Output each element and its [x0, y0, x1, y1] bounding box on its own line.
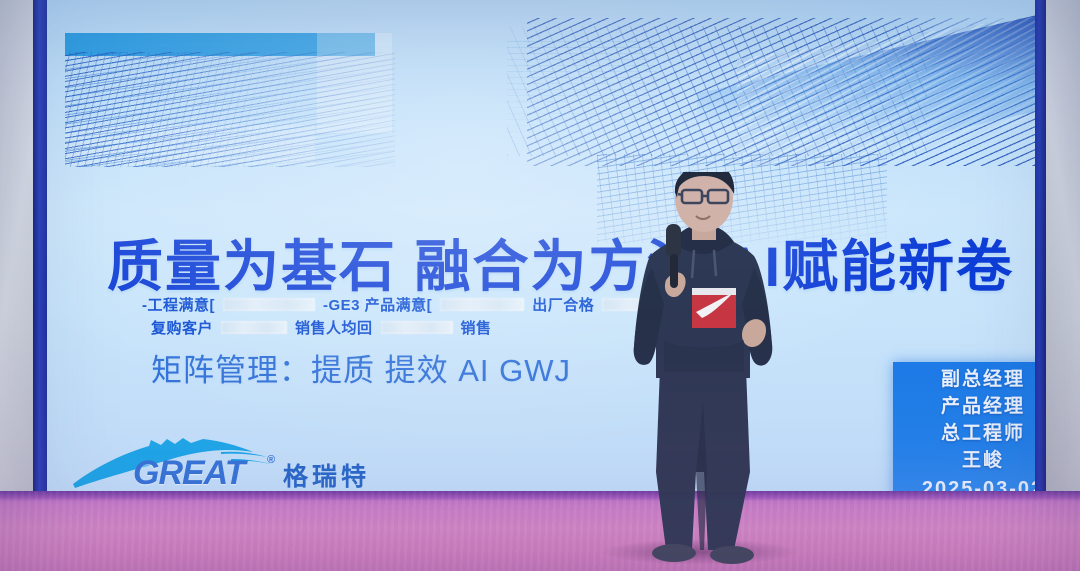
presenter-role-1: 副总经理: [893, 366, 1035, 393]
slide-tagline: 矩阵管理：提质 提效 AI GWJ: [151, 345, 571, 390]
metric-label: -GE3 产品满意[: [323, 294, 432, 315]
building-artwork-right: [507, 6, 1035, 166]
redacted-value: [440, 298, 524, 311]
slide-metrics-line-2: 复购客户销售人均回销售: [151, 317, 496, 338]
metric-label: 销售: [461, 317, 492, 338]
presentation-screen: 质量为基石 融合为方法 AI赋能新卷 -工程满意[-GE3 产品满意[出厂合格客…: [47, 0, 1035, 503]
stage-floor: [0, 491, 1080, 571]
presenter-name: 王峻: [893, 447, 1035, 474]
metric-label: 复购客户: [151, 317, 213, 338]
speaker-shoe-right: [710, 546, 754, 564]
presenter-role-2: 产品经理: [893, 393, 1035, 420]
redacted-value: [381, 321, 453, 334]
presenter-info-panel: 副总经理 产品经理 总工程师 王峻 2025-03-02: [893, 362, 1035, 503]
company-logo: GREAT ® 格瑞特: [71, 432, 371, 494]
logo-registered-icon: ®: [267, 454, 275, 466]
metric-label: 出厂合格: [532, 294, 594, 315]
speaker-shoe-left: [652, 544, 696, 562]
microphone-icon: [666, 224, 681, 258]
logo-wordmark: GREAT: [133, 454, 244, 493]
redacted-value: [223, 298, 315, 311]
metric-label: 销售人均回: [295, 317, 373, 338]
presenter-role-3: 总工程师: [893, 420, 1035, 447]
building-fan-lines: [65, 130, 395, 167]
screenshot-root: 质量为基石 融合为方法 AI赋能新卷 -工程满意[-GE3 产品满意[出厂合格客…: [0, 0, 1080, 571]
logo-chinese-name: 格瑞特: [283, 457, 370, 493]
redacted-value: [221, 321, 287, 334]
metric-label: -工程满意[: [142, 294, 215, 315]
slide-title: 质量为基石 融合为方法 AI赋能新卷: [107, 222, 947, 303]
building-artwork-left: [65, 52, 395, 167]
speaker-figure: [608, 172, 798, 564]
